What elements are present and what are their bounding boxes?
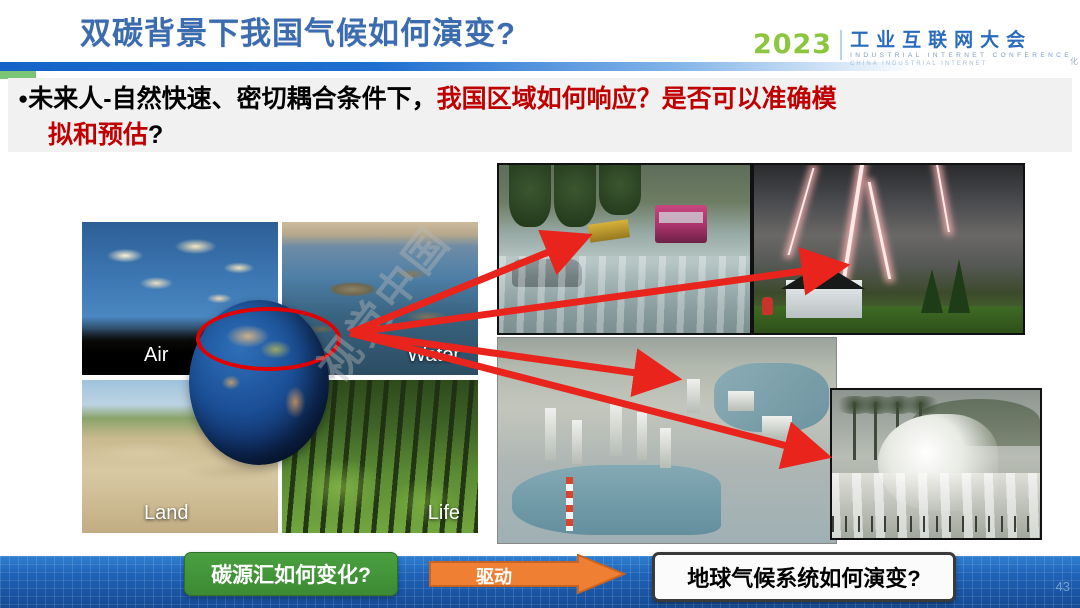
palm-tree-icon bbox=[874, 402, 877, 460]
building-shape bbox=[572, 420, 582, 464]
photo-label-air: Air bbox=[144, 344, 168, 367]
floodwater-surface bbox=[499, 256, 750, 333]
logo-divider bbox=[840, 30, 842, 60]
person-figure bbox=[762, 297, 773, 315]
bullet-line1-black: 未来人-自然快速、密切耦合条件下， bbox=[28, 85, 436, 113]
storm-surge-scene bbox=[832, 390, 1040, 538]
building-shape bbox=[728, 391, 754, 411]
bullet-line-2: 拟和预估? bbox=[48, 120, 163, 150]
building-shape bbox=[660, 428, 671, 468]
building-shape bbox=[545, 408, 556, 460]
logo-chinese-name: 工业互联网大会 bbox=[850, 30, 1072, 51]
bullet-line-1: ●未来人-自然快速、密切耦合条件下，我国区域如何响应？是否可以准确模 bbox=[18, 84, 837, 114]
building-shape bbox=[687, 379, 700, 413]
lightning-bolt-icon bbox=[842, 165, 864, 279]
excavator-shape bbox=[588, 219, 630, 242]
drive-arrow-shape bbox=[428, 554, 626, 594]
tree-icon bbox=[599, 165, 641, 215]
pine-tree-icon bbox=[948, 259, 970, 313]
aerial-city-scene bbox=[498, 338, 836, 543]
slide-canvas: 双碳背景下我国气候如何演变? 2023 工业互联网大会 INDUSTRIAL I… bbox=[0, 0, 1080, 608]
logo-subtitle: CHINA INDUSTRIAL INTERNET bbox=[850, 60, 1072, 68]
tree-icon bbox=[509, 165, 551, 227]
building-shape bbox=[637, 412, 647, 460]
palm-tree-icon bbox=[853, 402, 856, 460]
drive-arrow-label: 驱动 bbox=[476, 563, 512, 589]
flooded-street-scene bbox=[499, 165, 750, 333]
page-title: 双碳背景下我国气候如何演变? bbox=[80, 8, 516, 53]
lightning-scene bbox=[754, 165, 1023, 333]
drive-arrow: 驱动 bbox=[428, 554, 626, 594]
building-shape bbox=[610, 400, 622, 456]
bullet-line2-red: 拟和预估 bbox=[48, 121, 148, 149]
photo-urban-flood bbox=[497, 163, 752, 335]
logo-english-name: INDUSTRIAL INTERNET CONFERENCE bbox=[850, 51, 1072, 60]
lightning-bolt-icon bbox=[867, 182, 891, 279]
page-number: 43 bbox=[1056, 579, 1070, 594]
conference-logo: 2023 工业互联网大会 INDUSTRIAL INTERNET CONFERE… bbox=[753, 30, 1072, 70]
lightning-bolt-icon bbox=[936, 165, 950, 232]
pine-tree-icon bbox=[921, 269, 943, 313]
lightning-bolt-icon bbox=[787, 168, 814, 255]
photo-label-life: Life bbox=[428, 502, 460, 525]
tag-carbon-source-sink: 碳源汇如何变化? bbox=[184, 552, 398, 596]
bullet-marker-icon: ● bbox=[18, 89, 28, 108]
logo-year-text: 2023 bbox=[753, 30, 832, 60]
bus-shape bbox=[655, 205, 707, 243]
water-body-lower bbox=[512, 465, 722, 535]
photo-lightning-storm bbox=[752, 163, 1025, 335]
tag-climate-system-evolution: 地球气候系统如何演变? bbox=[652, 552, 956, 602]
photo-coastal-city bbox=[497, 337, 837, 544]
building-shape bbox=[762, 416, 792, 438]
photo-label-land: Land bbox=[144, 502, 189, 525]
bullet-line2-black: ? bbox=[148, 121, 163, 149]
logo-tail-character: 化 bbox=[1070, 56, 1078, 67]
seawall-railing bbox=[832, 516, 1040, 532]
bullet-line1-red: 我国区域如何响应？是否可以准确模 bbox=[437, 85, 837, 113]
communication-tower bbox=[566, 477, 573, 531]
tree-icon bbox=[554, 165, 596, 227]
house-roof-shape bbox=[781, 263, 865, 289]
photo-typhoon-waves bbox=[830, 388, 1042, 540]
